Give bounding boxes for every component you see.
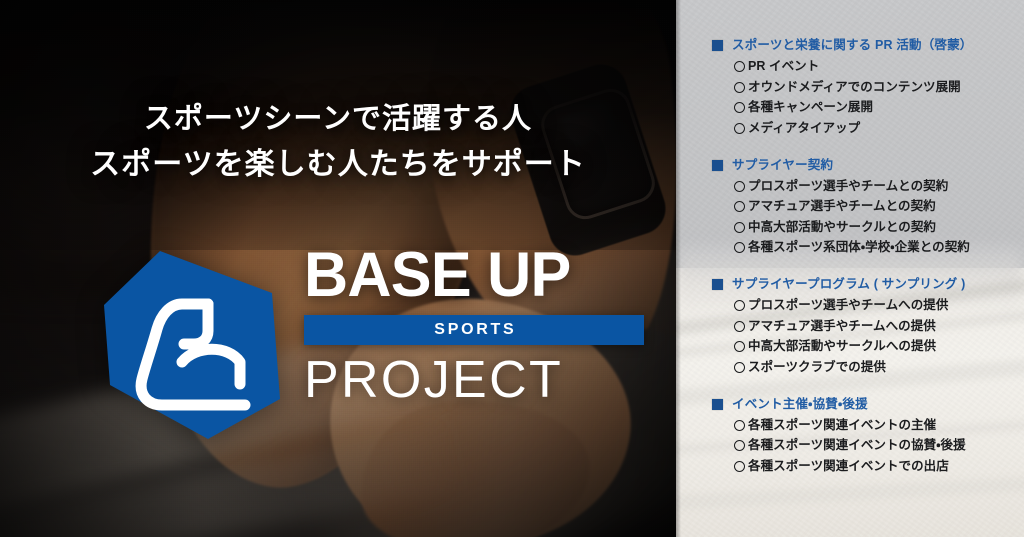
activity-item-label: アマチュア選手やチームとの契約 bbox=[748, 199, 936, 214]
activity-item: 各種スポーツ関連イベントでの出店 bbox=[734, 459, 1024, 474]
activity-item: 各種スポーツ関連イベントの協賛・後援 bbox=[734, 438, 1024, 453]
circle-bullet-icon bbox=[734, 102, 745, 113]
activity-group: スポーツと栄養に関する PR 活動（啓蒙）PR イベントオウンドメディアでのコン… bbox=[676, 38, 1024, 136]
hero-headline: スポーツシーンで活躍する人 スポーツを楽しむ人たちをサポート bbox=[0, 98, 676, 187]
activities-panel: スポーツと栄養に関する PR 活動（啓蒙）PR イベントオウンドメディアでのコン… bbox=[676, 0, 1024, 537]
activity-group-title: サプライヤー契約 bbox=[732, 158, 833, 173]
activity-item-label: オウンドメディアでのコンテンツ展開 bbox=[748, 80, 961, 95]
activity-item-label: 各種スポーツ系団体・学校・企業との契約 bbox=[748, 240, 970, 255]
activity-item-label: スポーツクラブでの提供 bbox=[748, 360, 886, 375]
activity-group-header: サプライヤー契約 bbox=[712, 158, 1024, 173]
activity-item-label: 各種キャンペーン展開 bbox=[748, 100, 873, 115]
hero-headline-line-1: スポーツシーンで活躍する人 bbox=[40, 98, 636, 142]
activity-group: イベント主催・協賛・後援各種スポーツ関連イベントの主催各種スポーツ関連イベントの… bbox=[676, 397, 1024, 474]
circle-bullet-icon bbox=[734, 420, 745, 431]
activity-group: サプライヤープログラム ( サンプリング )プロスポーツ選手やチームへの提供アマ… bbox=[676, 277, 1024, 375]
activity-item: プロスポーツ選手やチームとの契約 bbox=[734, 179, 1024, 194]
flexed-arm-hexagon-mark-icon bbox=[104, 249, 280, 441]
circle-bullet-icon bbox=[734, 181, 745, 192]
banner-root: スポーツシーンで活躍する人 スポーツを楽しむ人たちをサポート BASE UP S… bbox=[0, 0, 1024, 537]
circle-bullet-icon bbox=[734, 341, 745, 352]
brand-wordmark: BASE UP SPORTS PROJECT bbox=[304, 245, 644, 406]
circle-bullet-icon bbox=[734, 321, 745, 332]
activity-item-label: 中高大部活動やサークルとの契約 bbox=[748, 220, 936, 235]
circle-bullet-icon bbox=[734, 123, 745, 134]
activity-group-title: スポーツと栄養に関する PR 活動（啓蒙） bbox=[732, 38, 973, 53]
circle-bullet-icon bbox=[734, 440, 745, 451]
brand-name-baseup: BASE UP bbox=[304, 245, 634, 307]
activity-item-label: メディアタイアップ bbox=[748, 121, 860, 136]
activity-group-title: サプライヤープログラム ( サンプリング ) bbox=[732, 277, 966, 292]
activity-item: スポーツクラブでの提供 bbox=[734, 360, 1024, 375]
activity-item: アマチュア選手やチームへの提供 bbox=[734, 319, 1024, 334]
activity-item-list: プロスポーツ選手やチームへの提供アマチュア選手やチームへの提供中高大部活動やサー… bbox=[712, 298, 1024, 375]
brand-sports-bar: SPORTS bbox=[304, 315, 644, 345]
brand-lockup: BASE UP SPORTS PROJECT bbox=[104, 245, 644, 445]
circle-bullet-icon bbox=[734, 461, 745, 472]
activity-item: アマチュア選手やチームとの契約 bbox=[734, 199, 1024, 214]
blue-square-bullet-icon bbox=[712, 399, 723, 410]
activity-item: 各種スポーツ関連イベントの主催 bbox=[734, 418, 1024, 433]
circle-bullet-icon bbox=[734, 362, 745, 373]
activity-group-header: スポーツと栄養に関する PR 活動（啓蒙） bbox=[712, 38, 1024, 53]
blue-square-bullet-icon bbox=[712, 279, 723, 290]
activity-item: オウンドメディアでのコンテンツ展開 bbox=[734, 80, 1024, 95]
activity-group-title: イベント主催・協賛・後援 bbox=[732, 397, 868, 412]
activity-item-list: プロスポーツ選手やチームとの契約アマチュア選手やチームとの契約中高大部活動やサー… bbox=[712, 179, 1024, 256]
circle-bullet-icon bbox=[734, 242, 745, 253]
circle-bullet-icon bbox=[734, 300, 745, 311]
activity-group-list: スポーツと栄養に関する PR 活動（啓蒙）PR イベントオウンドメディアでのコン… bbox=[676, 0, 1024, 537]
activity-item-label: プロスポーツ選手やチームとの契約 bbox=[748, 179, 948, 194]
activity-group-header: サプライヤープログラム ( サンプリング ) bbox=[712, 277, 1024, 292]
circle-bullet-icon bbox=[734, 222, 745, 233]
circle-bullet-icon bbox=[734, 61, 745, 72]
activity-group: サプライヤー契約プロスポーツ選手やチームとの契約アマチュア選手やチームとの契約中… bbox=[676, 158, 1024, 256]
circle-bullet-icon bbox=[734, 201, 745, 212]
activity-item-label: プロスポーツ選手やチームへの提供 bbox=[748, 298, 948, 313]
activity-item: 各種スポーツ系団体・学校・企業との契約 bbox=[734, 240, 1024, 255]
activity-item-label: 各種スポーツ関連イベントの主催 bbox=[748, 418, 936, 433]
activity-item: 中高大部活動やサークルとの契約 bbox=[734, 220, 1024, 235]
activity-item-label: アマチュア選手やチームへの提供 bbox=[748, 319, 936, 334]
activity-item: メディアタイアップ bbox=[734, 121, 1024, 136]
activity-item: 中高大部活動やサークルへの提供 bbox=[734, 339, 1024, 354]
activity-item: プロスポーツ選手やチームへの提供 bbox=[734, 298, 1024, 313]
activity-item-label: 各種スポーツ関連イベントでの出店 bbox=[748, 459, 949, 474]
activity-item-label: 中高大部活動やサークルへの提供 bbox=[748, 339, 936, 354]
activity-item: 各種キャンペーン展開 bbox=[734, 100, 1024, 115]
circle-bullet-icon bbox=[734, 82, 745, 93]
activity-item: PR イベント bbox=[734, 59, 1024, 74]
brand-name-project: PROJECT bbox=[304, 354, 644, 406]
activity-item-list: 各種スポーツ関連イベントの主催各種スポーツ関連イベントの協賛・後援各種スポーツ関… bbox=[712, 418, 1024, 474]
hero-headline-line-2: スポーツを楽しむ人たちをサポート bbox=[40, 142, 636, 187]
hero-panel: スポーツシーンで活躍する人 スポーツを楽しむ人たちをサポート BASE UP S… bbox=[0, 0, 676, 537]
activity-item-label: PR イベント bbox=[748, 59, 819, 74]
blue-square-bullet-icon bbox=[712, 160, 723, 171]
blue-square-bullet-icon bbox=[712, 40, 723, 51]
activity-item-list: PR イベントオウンドメディアでのコンテンツ展開各種キャンペーン展開メディアタイ… bbox=[712, 59, 1024, 136]
activity-group-header: イベント主催・協賛・後援 bbox=[712, 397, 1024, 412]
brand-name-sports: SPORTS bbox=[432, 322, 517, 338]
activity-item-label: 各種スポーツ関連イベントの協賛・後援 bbox=[748, 438, 966, 453]
